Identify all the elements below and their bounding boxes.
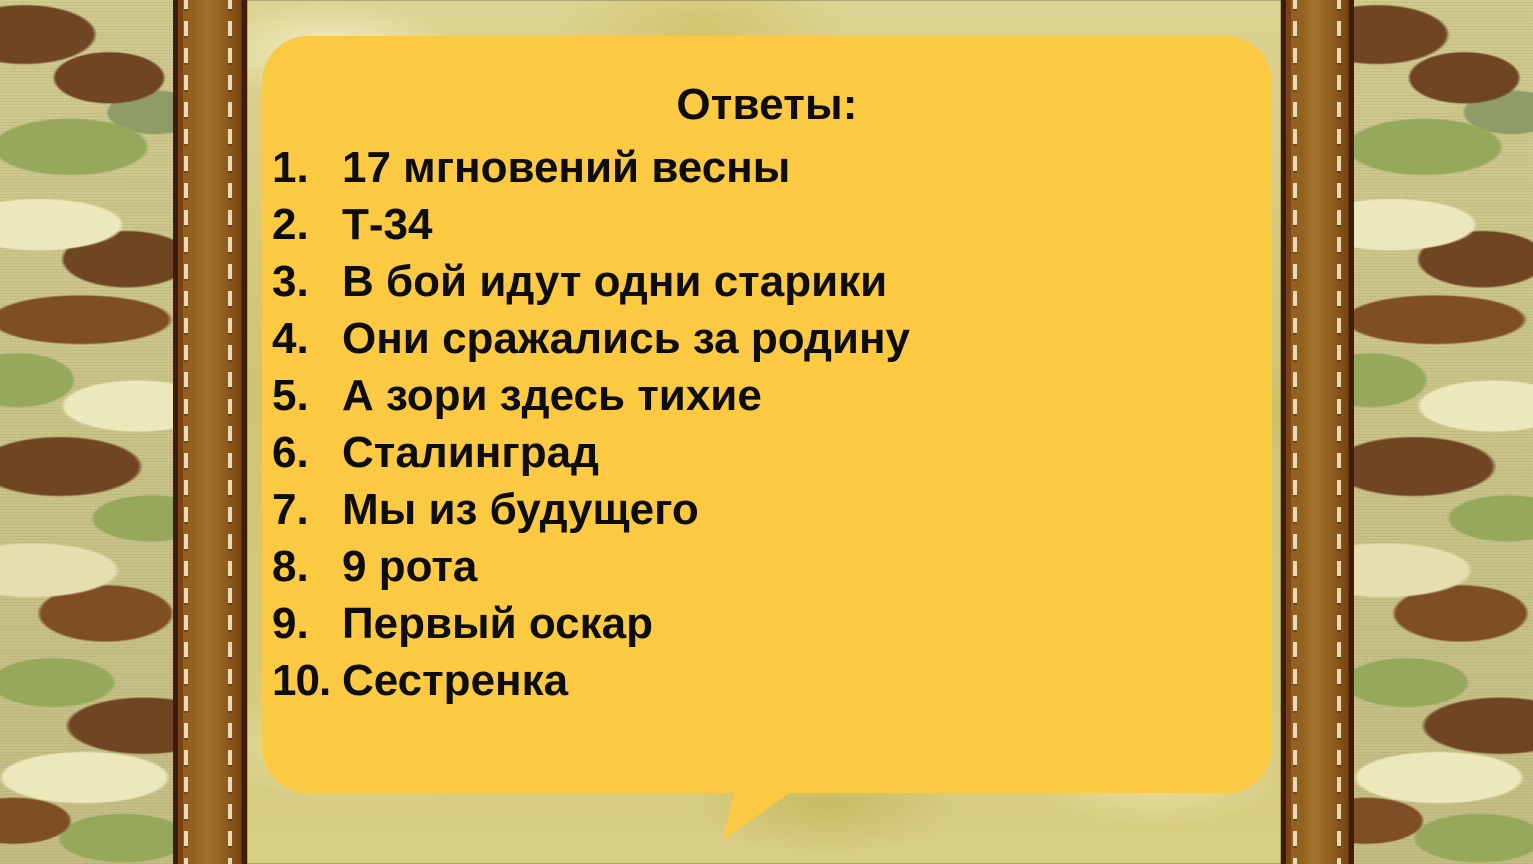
list-item: 5.А зори здесь тихие [272,371,1262,428]
list-item: 7.Мы из будущего [272,485,1262,542]
stitch-line [228,0,232,864]
list-item-label: Мы из будущего [342,485,699,535]
leather-strap-right [1281,0,1354,864]
speech-bubble: Ответы: 1.17 мгновений весны2.Т-343.В бо… [262,36,1272,793]
list-item-label: Т-34 [342,200,432,250]
list-item-label: Сталинград [342,428,599,478]
camouflage-panel-left [0,0,176,864]
leather-strap-left [173,0,247,864]
list-item-label: Они сражались за родину [342,314,910,364]
list-item-number: 6. [272,428,342,478]
list-item-label: В бой идут одни старики [342,257,887,307]
list-item: 10.Сестренка [272,656,1262,713]
list-item-label: А зори здесь тихие [342,371,762,421]
list-item-label: Сестренка [342,656,568,706]
stitch-line [1293,0,1297,864]
page-title: Ответы: [262,80,1272,130]
list-item-number: 1. [272,143,342,193]
list-item-number: 8. [272,542,342,592]
list-item: 4.Они сражались за родину [272,314,1262,371]
list-item: 1.17 мгновений весны [272,143,1262,200]
list-item: 9.Первый оскар [272,599,1262,656]
list-item-number: 2. [272,200,342,250]
list-item: 8.9 рота [272,542,1262,599]
slide-canvas: Ответы: 1.17 мгновений весны2.Т-343.В бо… [0,0,1533,864]
speech-bubble-tail [718,788,796,842]
list-item-label: Первый оскар [342,599,653,649]
list-item: 3.В бой идут одни старики [272,257,1262,314]
list-item-label: 9 рота [342,542,477,592]
list-item-label: 17 мгновений весны [342,143,790,193]
list-item: 2.Т-34 [272,200,1262,257]
stitch-line [1337,0,1341,864]
list-item-number: 4. [272,314,342,364]
list-item: 6.Сталинград [272,428,1262,485]
list-item-number: 7. [272,485,342,535]
stitch-line [184,0,188,864]
list-item-number: 9. [272,599,342,649]
list-item-number: 5. [272,371,342,421]
camouflage-panel-right [1352,0,1533,864]
list-item-number: 10. [272,656,342,706]
answers-list: 1.17 мгновений весны2.Т-343.В бой идут о… [272,143,1262,713]
list-item-number: 3. [272,257,342,307]
